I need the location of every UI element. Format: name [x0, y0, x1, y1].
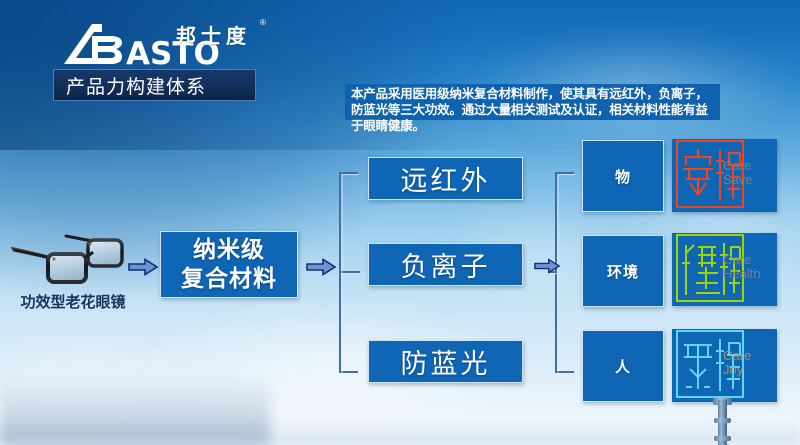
care-sign-english: Care Save: [723, 159, 773, 187]
product-caption: 功效型老花眼镜: [14, 291, 132, 312]
target-label: 物: [615, 166, 631, 187]
billboard-post-ring: [714, 436, 731, 441]
effect-label: 负离子: [401, 245, 491, 284]
target-label: 环境: [607, 261, 639, 282]
target-box-person[interactable]: 人: [582, 330, 664, 402]
target-box-environment[interactable]: 环境: [582, 235, 664, 307]
care-sign-save[interactable]: Care Save: [672, 139, 777, 212]
billboard-post-ring: [714, 418, 731, 423]
arrow-right-icon: [128, 258, 158, 276]
registered-mark-icon: ®: [260, 18, 266, 27]
brand-name-cn: 邦士度: [176, 20, 251, 49]
material-line-2: 复合材料: [181, 265, 277, 294]
care-en-line-2: Save: [723, 173, 773, 187]
slide-canvas: ASTO 邦士度 ® 产品力构建体系 本产品采用医用级纳米复合材料制作，使其具有…: [0, 0, 800, 445]
care-en-line-1: Care: [723, 159, 773, 173]
care-sign-joy[interactable]: Care Joy: [672, 329, 777, 402]
effect-box-far-infrared[interactable]: 远红外: [368, 157, 523, 200]
target-label: 人: [615, 356, 631, 377]
effect-label: 防蓝光: [401, 342, 491, 381]
care-sign-english: Care Health: [723, 253, 773, 281]
intro-text: 本产品采用医用级纳米复合材料制作，使其具有远红外，负离子，防蓝光等三大功效。通过…: [351, 86, 714, 134]
arrow-right-icon: [534, 258, 560, 274]
page-title: 产品力构建体系: [66, 72, 206, 99]
brand-logo: ASTO 邦士度 ®: [58, 18, 398, 70]
care-en-line-2: Joy: [723, 363, 773, 377]
care-en-line-1: Care: [723, 349, 773, 363]
material-box[interactable]: 纳米级 复合材料: [160, 231, 298, 298]
material-line-1: 纳米级: [193, 236, 265, 265]
care-sign-health[interactable]: Care Health: [672, 233, 777, 306]
care-sign-english: Care Joy: [723, 349, 773, 377]
effect-box-anti-blue-light[interactable]: 防蓝光: [368, 340, 523, 383]
intro-callout: 本产品采用医用级纳米复合材料制作，使其具有远红外，负离子，防蓝光等三大功效。通过…: [345, 84, 720, 120]
effect-label: 远红外: [401, 159, 491, 198]
slide-title-banner: 产品力构建体系: [53, 69, 256, 101]
horizon-haze: [0, 419, 800, 445]
target-box-object[interactable]: 物: [582, 140, 664, 212]
effect-box-negative-ion[interactable]: 负离子: [368, 243, 523, 286]
eyeglasses-photo: [8, 228, 126, 290]
care-en-line-1: Care: [723, 253, 773, 267]
care-en-line-2: Health: [723, 267, 773, 281]
